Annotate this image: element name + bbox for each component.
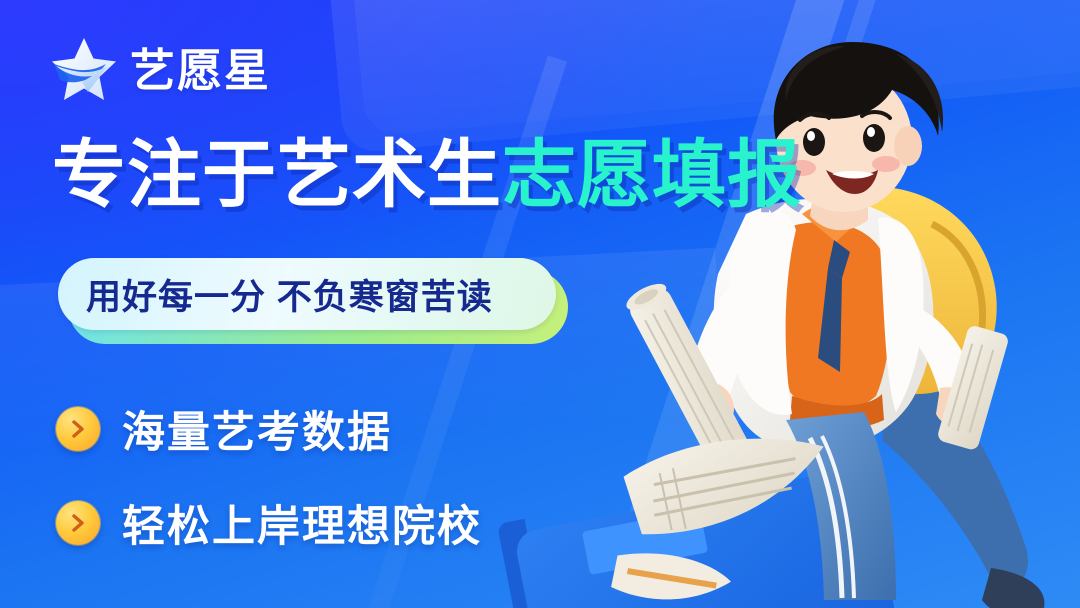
headline-accent: 志愿填报 xyxy=(502,133,802,216)
star-arrow-icon xyxy=(48,36,120,104)
headline: 专注于艺术生志愿填报 xyxy=(52,138,802,212)
headline-primary: 专注于艺术生 xyxy=(52,133,502,216)
running-student-illustration xyxy=(596,28,1080,608)
feature-list: 海量艺考数据 轻松上岸理想院校 xyxy=(56,398,482,586)
brand-logo[interactable]: 艺愿星 xyxy=(48,36,271,104)
subtitle-text: 用好每一分 不负寒窗苦读 xyxy=(58,269,493,320)
subtitle-pill: 用好每一分 不负寒窗苦读 xyxy=(58,258,558,334)
feature-item-1[interactable]: 海量艺考数据 xyxy=(56,398,482,460)
brand-name: 艺愿星 xyxy=(130,48,271,93)
chevron-right-icon xyxy=(56,407,100,451)
chevron-right-icon xyxy=(56,501,100,545)
feature-label-1: 海量艺考数据 xyxy=(122,398,392,460)
promo-banner: 艺愿星 专注于艺术生志愿填报 用好每一分 不负寒窗苦读 海量艺考数据 xyxy=(0,0,1080,608)
subtitle-pill-face: 用好每一分 不负寒窗苦读 xyxy=(58,258,556,330)
feature-label-2: 轻松上岸理想院校 xyxy=(122,492,482,554)
feature-item-2[interactable]: 轻松上岸理想院校 xyxy=(56,492,482,554)
background-book-edge xyxy=(497,519,555,608)
